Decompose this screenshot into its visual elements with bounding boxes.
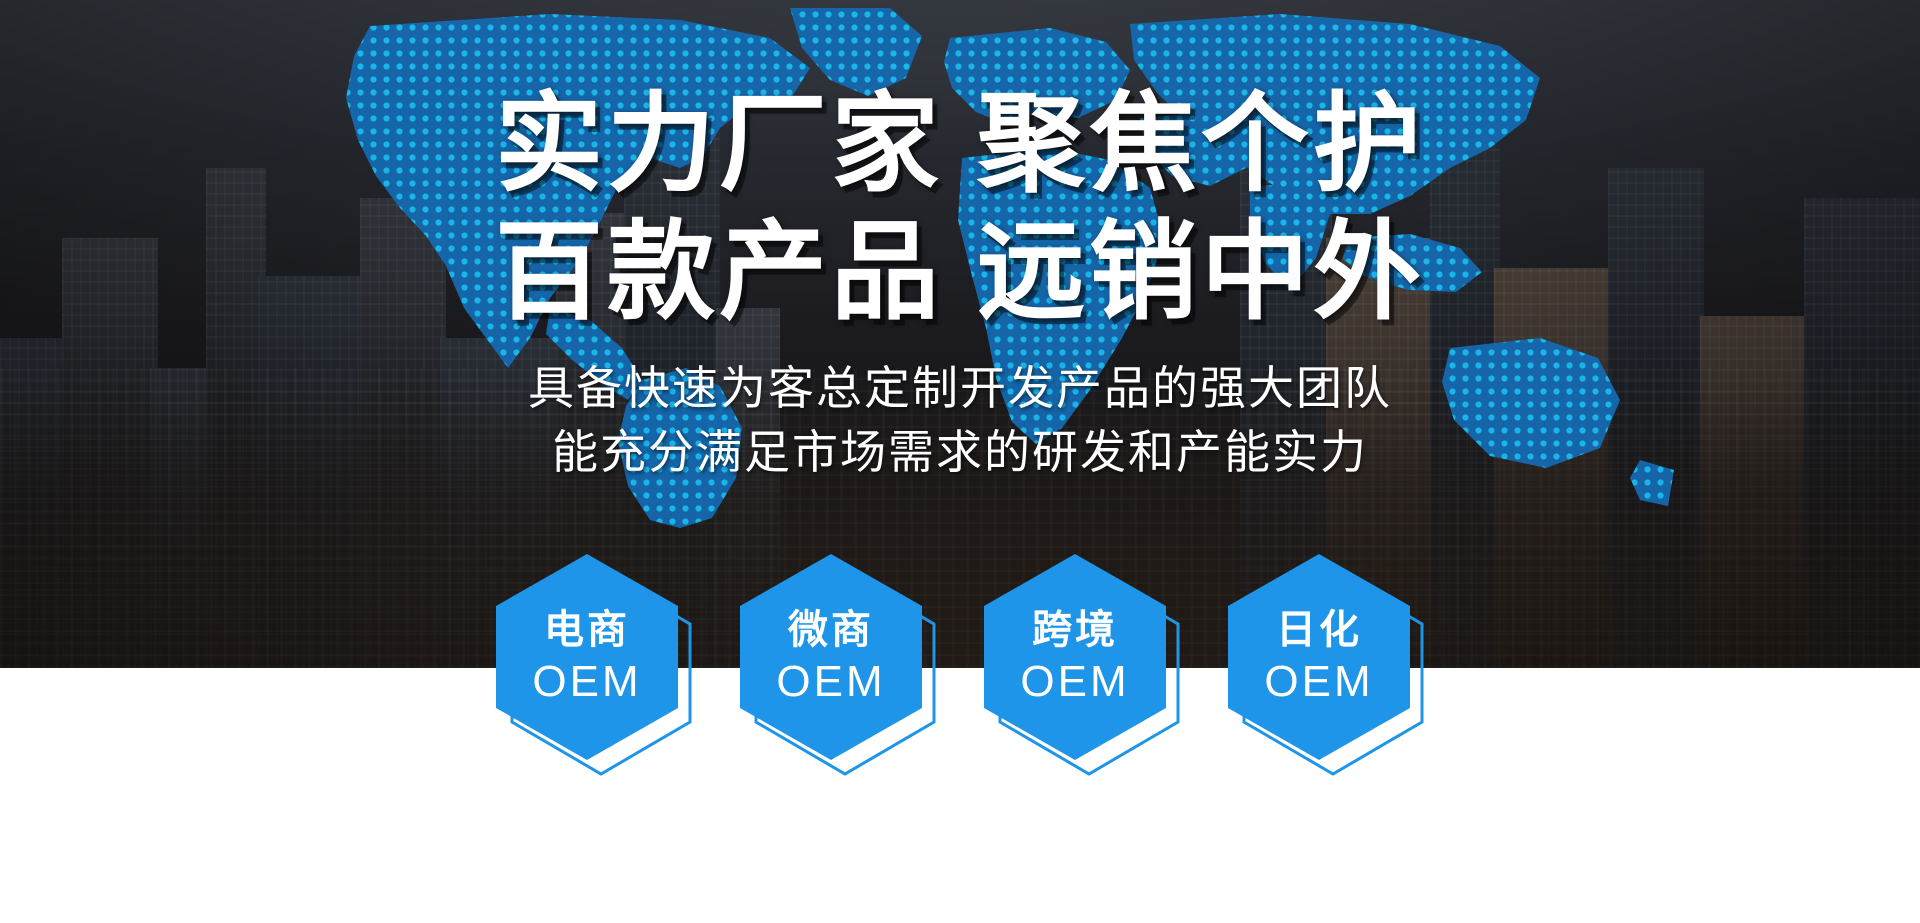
badge-label-en: OEM	[776, 658, 885, 706]
badge-label-group: 跨境 OEM	[982, 552, 1168, 762]
badge-row: 电商 OEM 微商 OEM	[0, 552, 1920, 812]
badge-label-group: 日化 OEM	[1226, 552, 1412, 762]
badge-label-cn: 日化	[1276, 609, 1362, 652]
badge-label-en: OEM	[1264, 658, 1373, 706]
badge-item-weishang[interactable]: 微商 OEM	[738, 552, 938, 778]
badge-label-group: 微商 OEM	[738, 552, 924, 762]
badge-item-kuajing[interactable]: 跨境 OEM	[982, 552, 1182, 778]
badge-label-en: OEM	[532, 658, 641, 706]
badge-label-group: 电商 OEM	[494, 552, 680, 762]
promo-banner: 实力厂家聚焦个护 百款产品远销中外 具备快速为客总定制开发产品的强大团队 能充分…	[0, 0, 1920, 923]
badge-label-cn: 跨境	[1032, 609, 1118, 652]
badge-label-cn: 微商	[788, 609, 874, 652]
badge-label-cn: 电商	[544, 609, 630, 652]
badge-item-dianshang[interactable]: 电商 OEM	[494, 552, 694, 778]
world-map-overlay	[250, 8, 1680, 528]
badge-item-rihua[interactable]: 日化 OEM	[1226, 552, 1426, 778]
badge-label-en: OEM	[1020, 658, 1129, 706]
